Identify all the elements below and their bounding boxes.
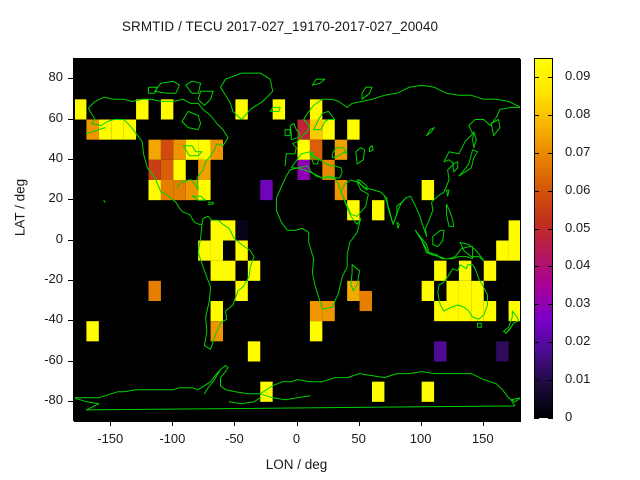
y-tick-mark [68,361,73,362]
heatmap-canvas [74,59,521,422]
colorbar-tick-label-7: 0.02 [565,333,590,348]
heatmap-cell [434,341,446,361]
y-tick-label-8: -80 [23,392,63,407]
heatmap-cell [149,180,161,200]
heatmap-cell [322,301,334,321]
x-tick-mark [172,421,173,426]
y-tick-label-1: 60 [23,110,63,125]
heatmap-cell [211,241,223,261]
x-tick-mark [110,421,111,426]
plot-root: SRMTID / TECU 2017-027_19170-2017-027_20… [0,0,640,480]
heatmap-cell [161,160,173,180]
colorbar-tick-mark [534,229,539,230]
heatmap-cell [459,301,471,321]
heatmap-cell [372,200,384,220]
colorbar-tick-mark [548,304,553,305]
colorbar-tick-mark [548,266,553,267]
heatmap-cell [149,160,161,180]
colorbar-tick-label-1: 0.08 [565,106,590,121]
heatmap-cell [186,140,198,160]
heatmap-cell [111,120,123,140]
colorbar[interactable] [534,58,553,418]
heatmap-cell [496,341,508,361]
x-tick-label-3: 0 [267,431,327,446]
x-tick-mark [234,421,235,426]
y-tick-mark [68,320,73,321]
heatmap-cell [198,180,210,200]
heatmap-cell [447,301,459,321]
y-tick-label-6: -40 [23,311,63,326]
heatmap-cell [235,220,247,240]
colorbar-tick-label-3: 0.06 [565,182,590,197]
heatmap-cell [310,321,322,341]
heatmap-cell [136,99,148,119]
heatmap-cell [372,382,384,402]
x-tick-mark [359,421,360,426]
x-tick-mark [483,421,484,426]
heatmap-cell [347,120,359,140]
colorbar-tick-mark [534,418,539,419]
heatmap-cell [422,281,434,301]
heatmap-cell [198,160,210,180]
colorbar-tick-mark [548,115,553,116]
y-tick-mark [68,159,73,160]
colorbar-tick-mark [534,304,539,305]
heatmap-cell [260,382,272,402]
heatmap-cell [360,291,372,311]
y-tick-mark [68,119,73,120]
colorbar-tick-label-9: 0 [565,409,572,424]
colorbar-tick-label-4: 0.05 [565,220,590,235]
heatmap-cell [248,341,260,361]
colorbar-gradient [535,59,552,417]
colorbar-tick-label-6: 0.03 [565,295,590,310]
heatmap-cell [124,120,136,140]
colorbar-tick-label-8: 0.01 [565,371,590,386]
heatmap-cell [422,180,434,200]
heatmap-cell [496,241,508,261]
colorbar-tick-mark [534,191,539,192]
heatmap-cell [459,261,471,281]
heatmap-cell [223,261,235,281]
y-tick-mark [68,401,73,402]
y-tick-label-5: -20 [23,271,63,286]
x-tick-label-0: -150 [80,431,140,446]
x-axis-title: LON / deg [73,457,520,472]
colorbar-tick-mark [534,380,539,381]
heatmap-cell [211,301,223,321]
colorbar-tick-mark [548,342,553,343]
heatmap-cell [211,140,223,160]
heatmap-cell [161,180,173,200]
y-tick-mark [68,280,73,281]
x-tick-mark [421,421,422,426]
colorbar-tick-mark [534,77,539,78]
colorbar-tick-mark [534,342,539,343]
heatmap-cell [149,140,161,160]
colorbar-tick-mark [534,266,539,267]
colorbar-tick-mark [548,77,553,78]
colorbar-tick-mark [534,153,539,154]
heatmap-cell [161,140,173,160]
y-tick-label-2: 40 [23,150,63,165]
x-tick-mark [297,421,298,426]
y-tick-mark [68,240,73,241]
heatmap-cell [198,140,210,160]
colorbar-tick-label-5: 0.04 [565,257,590,272]
colorbar-tick-label-2: 0.07 [565,144,590,159]
y-axis-title: LAT / deg [13,138,28,278]
y-tick-mark [68,78,73,79]
heatmap-cell [471,301,483,321]
heatmap-cell [509,241,521,261]
heatmap-cell [447,281,459,301]
colorbar-tick-mark [548,418,553,419]
heatmap-cell [434,261,446,281]
heatmap-cell [273,99,285,119]
heatmap-cell [211,261,223,281]
x-tick-label-4: 50 [329,431,389,446]
heatmap-cell [422,382,434,402]
heatmap-cell [260,180,272,200]
colorbar-tick-mark [548,229,553,230]
heatmap-cell [459,281,471,301]
heatmap-cell [173,140,185,160]
heatmap-cell [509,220,521,240]
heatmap-cell [484,261,496,281]
y-tick-label-7: -60 [23,352,63,367]
heatmap-cell [235,281,247,301]
heatmap-cell [235,241,247,261]
heatmap-cell [173,160,185,180]
heatmap-cell [86,321,98,341]
page-title: SRMTID / TECU 2017-027_19170-2017-027_20… [0,19,560,34]
x-tick-label-6: 150 [453,431,513,446]
heatmap-cell [235,99,247,119]
heatmap-cell [149,281,161,301]
y-tick-label-0: 80 [23,69,63,84]
colorbar-tick-mark [548,380,553,381]
y-tick-label-3: 20 [23,190,63,205]
heatmap-cell [509,301,521,321]
heatmap-cell [186,180,198,200]
x-tick-label-1: -100 [142,431,202,446]
heatmap-cell [173,180,185,200]
x-tick-label-5: 100 [391,431,451,446]
heatmap-cell [161,99,173,119]
colorbar-tick-label-0: 0.09 [565,68,590,83]
colorbar-tick-mark [548,191,553,192]
map-plot-area[interactable] [73,58,520,421]
x-tick-label-2: -50 [204,431,264,446]
heatmap-cell [310,140,322,160]
colorbar-tick-mark [534,115,539,116]
y-tick-label-4: 0 [23,231,63,246]
y-tick-mark [68,199,73,200]
colorbar-tick-mark [548,153,553,154]
heatmap-cell [74,99,86,119]
